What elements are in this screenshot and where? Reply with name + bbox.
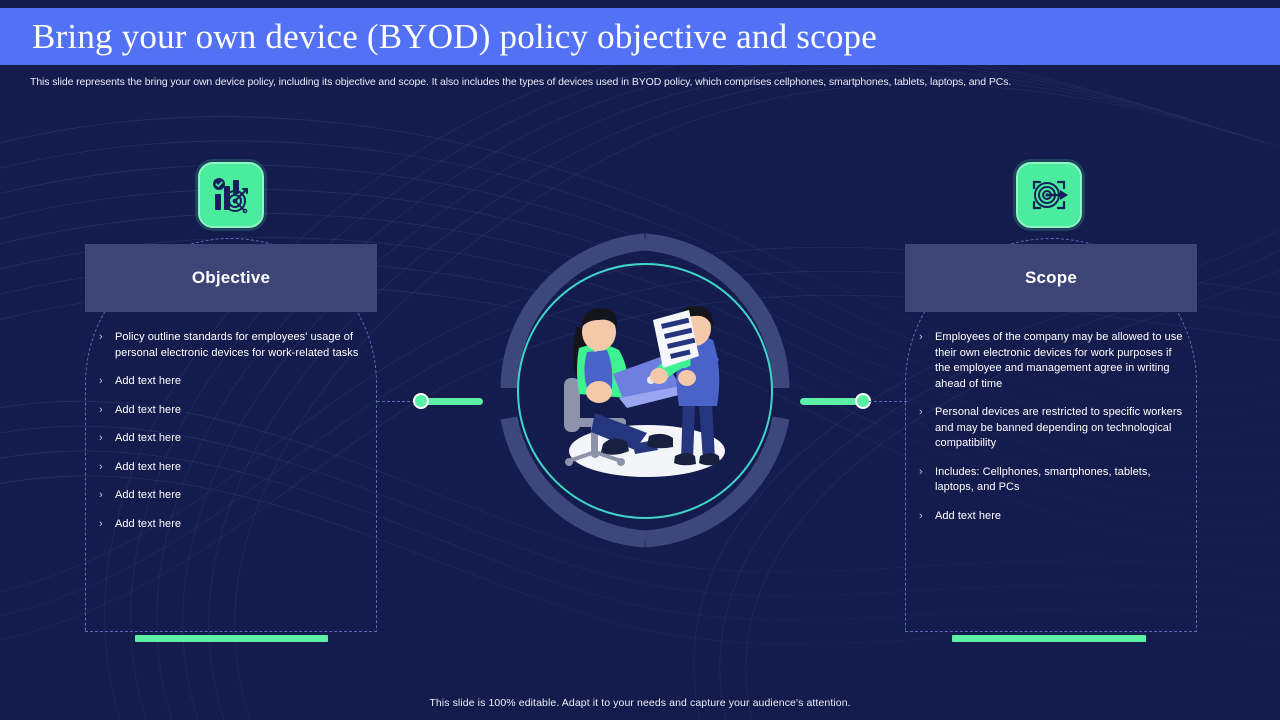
list-item-label: Add text here [935, 509, 1183, 525]
chevron-right-icon: › [919, 465, 935, 479]
objective-title: Objective [85, 244, 377, 312]
list-item-label: Includes: Cellphones, smartphones, table… [935, 465, 1183, 496]
chevron-right-icon: › [99, 460, 115, 474]
chevron-right-icon: › [919, 509, 935, 523]
list-item[interactable]: › Personal devices are restricted to spe… [919, 405, 1183, 452]
scope-accent-bar [952, 635, 1146, 642]
slide-canvas: Bring your own device (BYOD) policy obje… [0, 0, 1280, 720]
scope-icon-tile[interactable] [1016, 162, 1082, 228]
scope-bullet-list: › Employees of the company may be allowe… [919, 330, 1183, 537]
list-item-label: Add text here [115, 460, 363, 476]
objective-accent-bar [135, 635, 328, 642]
chevron-right-icon: › [99, 431, 115, 445]
list-item[interactable]: › Add text here [919, 509, 1183, 525]
list-item[interactable]: › Add text here [99, 431, 363, 447]
list-item[interactable]: › Add text here [99, 403, 363, 419]
list-item-label: Add text here [115, 374, 363, 390]
panel-scope: Scope › Employees of the company may be … [905, 238, 1197, 632]
list-item-label: Personal devices are restricted to speci… [935, 405, 1183, 452]
objective-bullet-list: › Policy outline standards for employees… [99, 330, 363, 545]
list-item-label: Add text here [115, 488, 363, 504]
list-item[interactable]: › Add text here [99, 460, 363, 476]
list-item-label: Policy outline standards for employees' … [115, 330, 363, 361]
editable-note: This slide is 100% editable. Adapt it to… [0, 697, 1280, 709]
connector-dashed-right [869, 401, 907, 402]
chevron-right-icon: › [99, 403, 115, 417]
slide-title-bar: Bring your own device (BYOD) policy obje… [0, 8, 1280, 65]
list-item-label: Employees of the company may be allowed … [935, 330, 1183, 392]
chevron-right-icon: › [99, 517, 115, 531]
analytics-target-icon [210, 174, 252, 216]
panel-objective: Objective › Policy outline standards for… [85, 238, 377, 632]
list-item-label: Add text here [115, 431, 363, 447]
list-item[interactable]: › Add text here [99, 374, 363, 390]
objective-icon-tile[interactable] [198, 162, 264, 228]
target-scope-icon [1028, 174, 1070, 216]
list-item[interactable]: › Policy outline standards for employees… [99, 330, 363, 361]
list-item[interactable]: › Add text here [99, 488, 363, 504]
list-item[interactable]: › Includes: Cellphones, smartphones, tab… [919, 465, 1183, 496]
connector-bar-left [425, 398, 483, 405]
page-title: Bring your own device (BYOD) policy obje… [0, 17, 877, 57]
list-item-label: Add text here [115, 517, 363, 533]
connector-dot-left [413, 393, 429, 409]
chevron-right-icon: › [919, 405, 935, 419]
center-illustration [495, 228, 795, 553]
connector-bar-right [800, 398, 858, 405]
chevron-right-icon: › [99, 488, 115, 502]
chevron-right-icon: › [99, 330, 115, 344]
chevron-right-icon: › [919, 330, 935, 344]
scope-title: Scope [905, 244, 1197, 312]
list-item[interactable]: › Employees of the company may be allowe… [919, 330, 1183, 392]
list-item-label: Add text here [115, 403, 363, 419]
list-item[interactable]: › Add text here [99, 517, 363, 533]
slide-subtitle: This slide represents the bring your own… [30, 76, 1250, 88]
connector-dashed-left [377, 401, 415, 402]
chevron-right-icon: › [99, 374, 115, 388]
